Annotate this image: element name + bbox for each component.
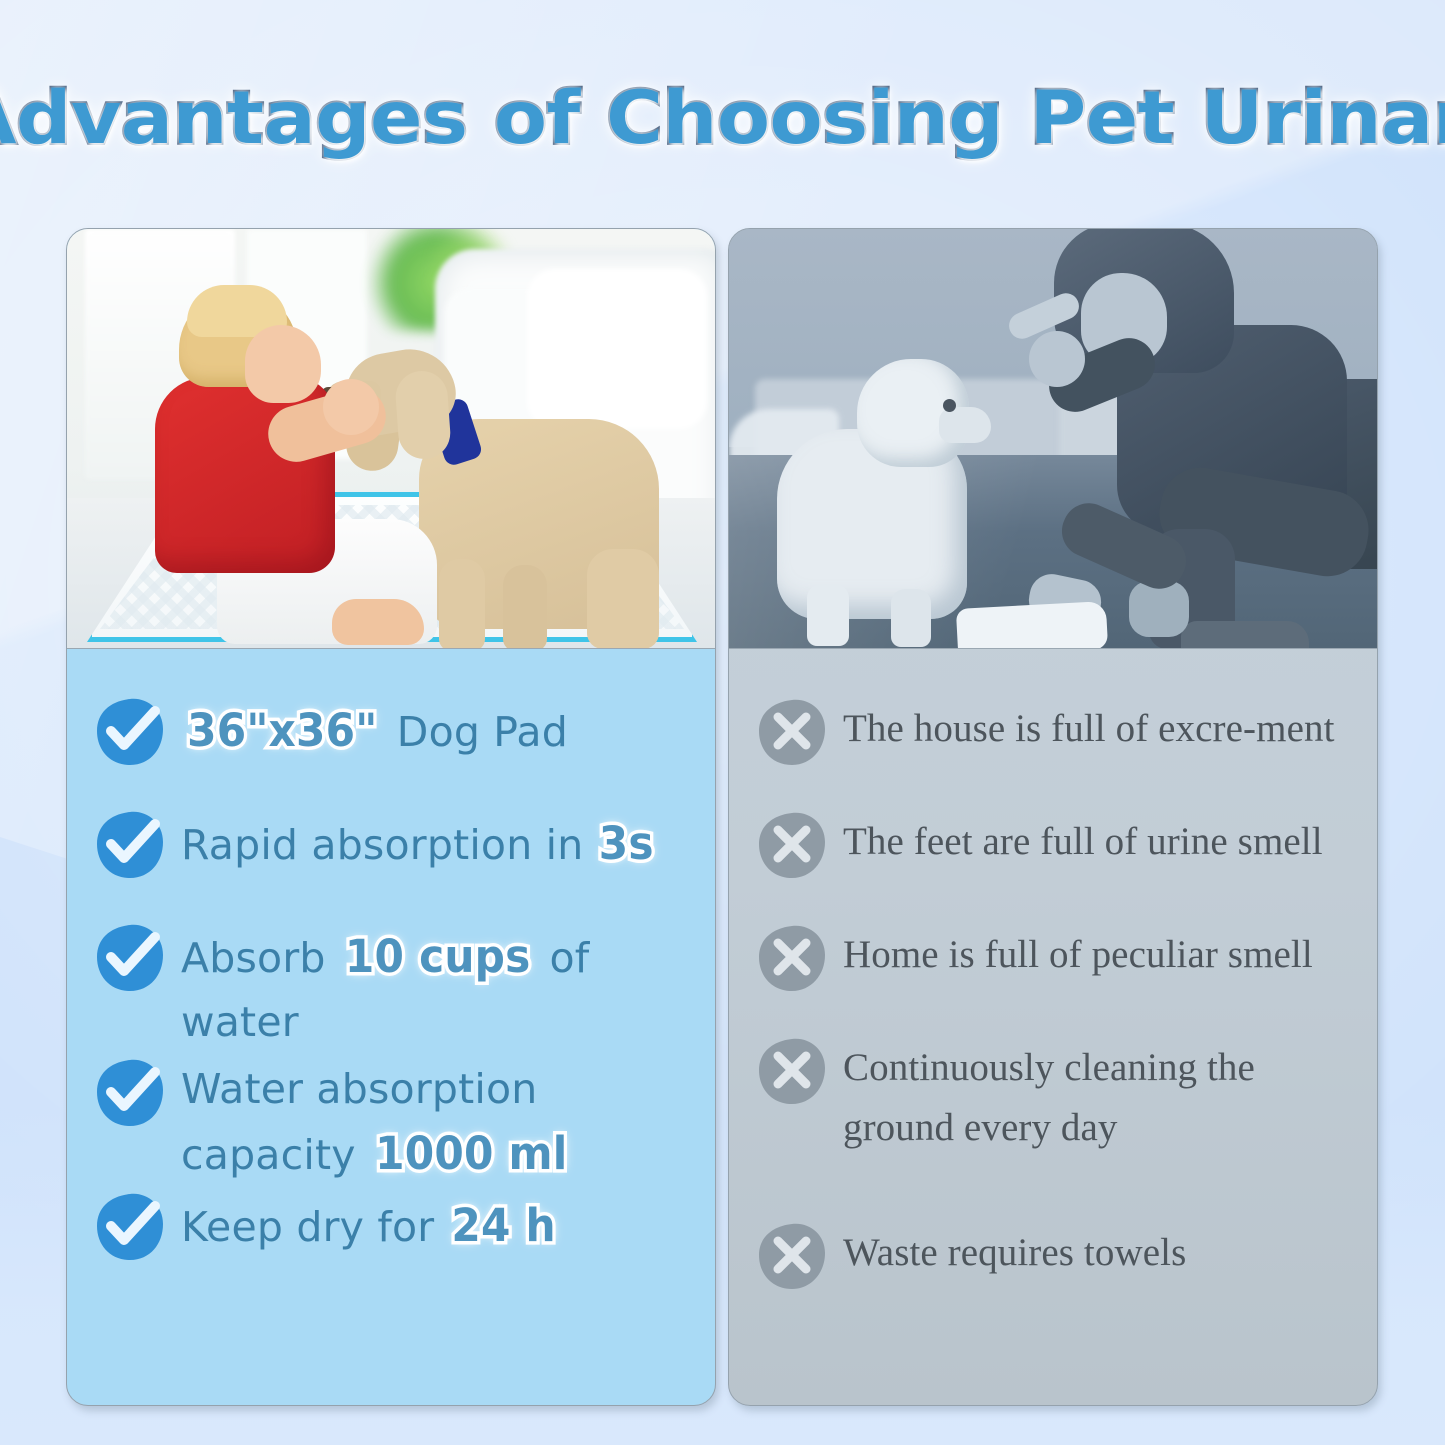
cross-icon <box>755 921 829 995</box>
list-item: Waste requires towels <box>729 1217 1377 1330</box>
highlight-text: 1000 ml <box>375 1120 567 1188</box>
problem-text: The feet are full of urine smell <box>843 806 1323 872</box>
feature-text: Water absorptioncapacity 1000 ml <box>181 1054 574 1189</box>
plain-text: Rapid absorption in <box>181 821 597 869</box>
highlight-text: 36"x36" <box>187 697 377 765</box>
infographic-page: Advantages of Choosing Pet Urinary Mats <box>0 0 1445 1445</box>
page-title: Advantages of Choosing Pet Urinary Mats <box>0 76 1445 161</box>
highlight-text: 24 h <box>451 1192 555 1260</box>
list-item: The feet are full of urine smell <box>729 806 1377 919</box>
cross-icon <box>755 1034 829 1108</box>
check-icon <box>93 808 167 882</box>
check-icon <box>93 695 167 769</box>
list-item: The house is full of excre-ment <box>729 693 1377 806</box>
list-item: Absorb 10 cups of water <box>67 919 715 1054</box>
feature-text: Absorb 10 cups of water <box>181 919 693 1054</box>
highlight-text: 3s <box>598 810 653 878</box>
plain-text: Dog Pad <box>384 708 568 756</box>
highlight-text: 10 cups <box>345 923 531 991</box>
cross-icon <box>755 808 829 882</box>
list-item: 36"x36" Dog Pad <box>67 693 715 806</box>
problems-panel: The house is full of excre-ment The feet… <box>728 228 1378 1406</box>
list-item: Keep dry for 24 h <box>67 1188 715 1301</box>
feature-text: 36"x36" Dog Pad <box>181 693 568 765</box>
feature-text: Keep dry for 24 h <box>181 1188 559 1260</box>
advantages-panel: 36"x36" Dog Pad Rapid absorption in 3s <box>66 228 716 1406</box>
list-item: Home is full of peculiar smell <box>729 919 1377 1032</box>
check-icon <box>93 1190 167 1264</box>
child-and-puppy-photo <box>67 229 715 649</box>
check-icon <box>93 1056 167 1130</box>
advantages-list: 36"x36" Dog Pad Rapid absorption in 3s <box>67 649 715 1301</box>
problems-list: The house is full of excre-ment The feet… <box>729 649 1377 1330</box>
problem-text: The house is full of excre-ment <box>843 693 1335 759</box>
woman-cleaning-floor-photo <box>729 229 1377 649</box>
plain-text: capacity <box>181 1131 369 1179</box>
feature-text: Rapid absorption in 3s <box>181 806 655 878</box>
plain-text: Absorb <box>181 934 339 982</box>
plain-text: Water absorption <box>181 1065 537 1113</box>
problem-text: Home is full of peculiar smell <box>843 919 1313 985</box>
problem-text: Continuously cleaning the ground every d… <box>843 1032 1313 1159</box>
problem-text: Waste requires towels <box>843 1217 1186 1283</box>
plain-text: Keep dry for <box>181 1203 448 1251</box>
list-item: Continuously cleaning the ground every d… <box>729 1032 1377 1159</box>
cross-icon <box>755 695 829 769</box>
cross-icon <box>755 1219 829 1293</box>
list-item: Water absorptioncapacity 1000 ml <box>67 1054 715 1189</box>
list-item: Rapid absorption in 3s <box>67 806 715 919</box>
check-icon <box>93 921 167 995</box>
